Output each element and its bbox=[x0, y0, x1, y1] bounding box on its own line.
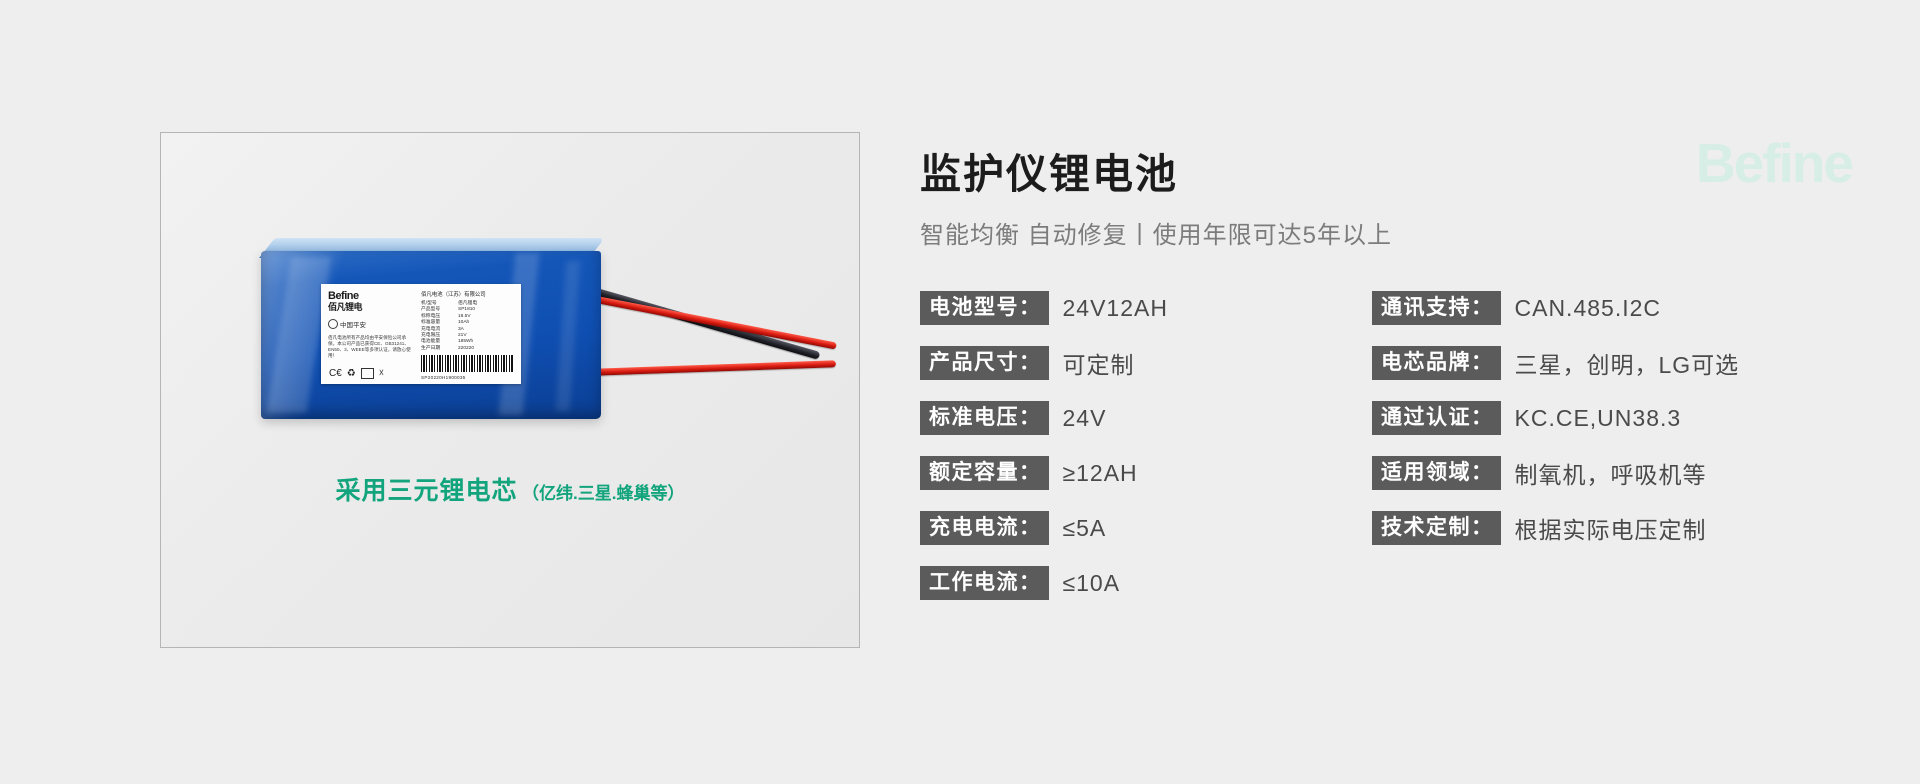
product-info: 监护仪锂电池 智能均衡 自动修复丨使用年限可达5年以上 电池型号：24V12AH… bbox=[920, 150, 1880, 621]
spec-value: ≤5A bbox=[1063, 515, 1107, 542]
label-brand-cn: 佰凡锂电 bbox=[328, 302, 414, 312]
product-image-panel: Befine 佰凡锂电 中国平安 佰凡电池所有产品均由平安保险公司承保。本公司产… bbox=[160, 132, 860, 648]
spec-row: 电池型号：24V12AH bbox=[920, 291, 1372, 325]
spec-label: 工作电流： bbox=[920, 566, 1049, 600]
spec-label: 充电电流： bbox=[920, 511, 1049, 545]
spec-value: 制氧机，呼吸机等 bbox=[1515, 456, 1707, 490]
spec-column-right: 通讯支持：CAN.485.I2C电芯品牌：三星，创明，LG可选通过认证：KC.C… bbox=[1372, 291, 1824, 621]
label-barcode-icon bbox=[421, 355, 513, 372]
spec-row: 额定容量：≥12AH bbox=[920, 456, 1372, 490]
spec-value: CAN.485.I2C bbox=[1515, 295, 1662, 322]
spec-value: 根据实际电压定制 bbox=[1515, 511, 1707, 545]
photo-caption-sub: （亿纬.三星.蜂巢等） bbox=[522, 484, 684, 503]
spec-row: 充电电流：≤5A bbox=[920, 511, 1372, 545]
spec-label: 标准电压： bbox=[920, 401, 1049, 435]
spec-row: 产品尺寸：可定制 bbox=[920, 346, 1372, 380]
ce-mark-icon: C€ bbox=[329, 369, 342, 379]
spec-row: 适用领域：制氧机，呼吸机等 bbox=[1372, 456, 1824, 490]
spec-table: 电池型号：24V12AH产品尺寸：可定制标准电压：24V额定容量：≥12AH充电… bbox=[920, 291, 1880, 621]
label-insurer-text: 中国平安 bbox=[340, 319, 366, 329]
label-notice-text: 佰凡电池所有产品均由平安保险公司承保。本公司产品已获得CE、GB31241、EN… bbox=[328, 335, 412, 359]
battery-pack: Befine 佰凡锂电 中国平安 佰凡电池所有产品均由平安保险公司承保。本公司产… bbox=[261, 251, 601, 419]
label-spec-value: 220220 bbox=[458, 346, 474, 352]
label-certification-marks: C€ ♻ ☓ bbox=[329, 368, 384, 379]
label-company-name: 佰凡电池（江苏）有限公司 bbox=[421, 290, 515, 298]
label-spec-key: 生产日期 bbox=[421, 346, 453, 352]
label-brand-en: Befine bbox=[328, 291, 414, 302]
spec-value: ≤10A bbox=[1063, 570, 1121, 597]
battery-disposal-mark-icon bbox=[361, 368, 374, 379]
label-left-block: Befine 佰凡锂电 中国平安 佰凡电池所有产品均由平安保险公司承保。本公司产… bbox=[328, 291, 414, 359]
brand-logo-watermark: Befine bbox=[1696, 133, 1852, 193]
spec-label: 通讯支持： bbox=[1372, 291, 1501, 325]
battery-wire-red-top bbox=[580, 293, 837, 349]
spec-column-left: 电池型号：24V12AH产品尺寸：可定制标准电压：24V额定容量：≥12AH充电… bbox=[920, 291, 1372, 621]
spec-row: 技术定制：根据实际电压定制 bbox=[1372, 511, 1824, 545]
spec-label: 技术定制： bbox=[1372, 511, 1501, 545]
insurer-logo-icon bbox=[328, 319, 338, 329]
recycle-mark-icon: ♻ bbox=[347, 369, 356, 379]
spec-value: 可定制 bbox=[1063, 346, 1135, 380]
page-subtitle: 智能均衡 自动修复丨使用年限可达5年以上 bbox=[920, 221, 1880, 251]
spec-row: 电芯品牌：三星，创明，LG可选 bbox=[1372, 346, 1824, 380]
wheelie-bin-mark-icon: ☓ bbox=[379, 369, 384, 379]
label-spec-row: 生产日期220220 bbox=[421, 346, 515, 352]
label-barcode-number: SP20220H1900035 bbox=[421, 375, 466, 380]
spec-label: 通过认证： bbox=[1372, 401, 1501, 435]
spec-value: 24V12AH bbox=[1063, 295, 1168, 322]
spec-label: 电芯品牌： bbox=[1372, 346, 1501, 380]
battery-product-label: Befine 佰凡锂电 中国平安 佰凡电池所有产品均由平安保险公司承保。本公司产… bbox=[321, 284, 521, 384]
spec-value: 24V bbox=[1063, 405, 1107, 432]
spec-value: ≥12AH bbox=[1063, 460, 1138, 487]
label-insurer: 中国平安 bbox=[328, 319, 414, 329]
spec-row: 通过认证：KC.CE,UN38.3 bbox=[1372, 401, 1824, 435]
spec-row: 通讯支持：CAN.485.I2C bbox=[1372, 291, 1824, 325]
pack-highlight bbox=[556, 261, 580, 411]
spec-value: KC.CE,UN38.3 bbox=[1515, 405, 1682, 432]
battery-pack-front-face: Befine 佰凡锂电 中国平安 佰凡电池所有产品均由平安保险公司承保。本公司产… bbox=[261, 251, 601, 419]
spec-label: 额定容量： bbox=[920, 456, 1049, 490]
battery-wire-red-bottom bbox=[586, 360, 836, 376]
label-spec-list: 机/型号佰凡锂电产品型号SP1810标称电压18.5V标准容量10Ah充电电流3… bbox=[421, 301, 515, 352]
spec-label: 产品尺寸： bbox=[920, 346, 1049, 380]
label-right-block: 佰凡电池（江苏）有限公司 机/型号佰凡锂电产品型号SP1810标称电压18.5V… bbox=[421, 290, 515, 352]
photo-caption: 采用三元锂电芯 （亿纬.三星.蜂巢等） bbox=[161, 471, 859, 507]
spec-value: 三星，创明，LG可选 bbox=[1515, 346, 1740, 380]
spec-label: 电池型号： bbox=[920, 291, 1049, 325]
photo-caption-main: 采用三元锂电芯 bbox=[336, 477, 518, 505]
spec-row: 工作电流：≤10A bbox=[920, 566, 1372, 600]
spec-row: 标准电压：24V bbox=[920, 401, 1372, 435]
spec-label: 适用领域： bbox=[1372, 456, 1501, 490]
